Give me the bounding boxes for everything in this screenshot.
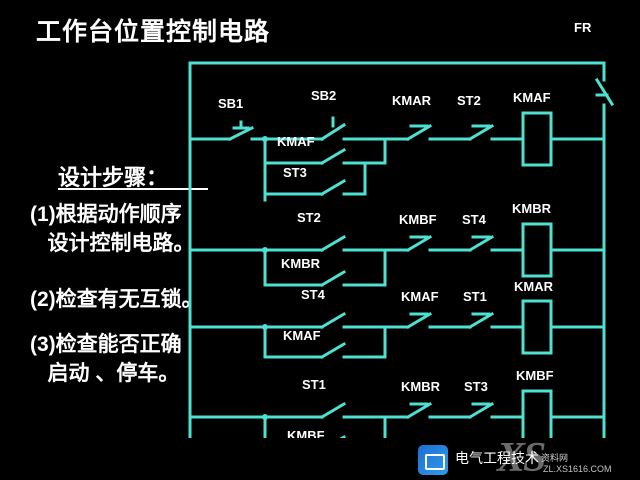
st3-2-blade <box>470 404 492 417</box>
junction-dot-2 <box>262 247 268 253</box>
brand-site-url: ZL.XS1616.COM <box>543 464 612 474</box>
label-kmaf-2: KMAF <box>401 289 439 304</box>
label-st4-2: ST4 <box>301 287 326 302</box>
label-kmbr-coil: KMBR <box>512 201 552 216</box>
fr-contact-blade <box>597 80 612 104</box>
brand-tagline: 资料网 <box>541 451 568 464</box>
st1-2-blade <box>322 404 344 417</box>
kmaf-seal-blade <box>322 150 344 163</box>
st2-2-blade <box>322 237 344 250</box>
kmbr-2-blade <box>408 404 430 417</box>
label-kmbf-coil: KMBF <box>516 368 554 383</box>
kmaf-2-blade <box>408 314 430 327</box>
label-kmbr-1: KMBR <box>281 256 321 271</box>
label-st1-1: ST1 <box>463 289 487 304</box>
label-sb2: SB2 <box>311 88 336 103</box>
kmar-coil-box <box>523 301 551 353</box>
label-kmar-1: KMAR <box>392 93 432 108</box>
label-kmbr-2: KMBR <box>401 379 441 394</box>
ladder-circuit-svg: FR SB1 SB2 KMAR ST2 KMAF KMAF ST3 ST2 KM… <box>0 0 640 480</box>
label-st4-1: ST4 <box>462 212 487 227</box>
label-fr: FR <box>574 20 592 35</box>
label-kmaf-1: KMAF <box>277 134 315 149</box>
kmbr-seal-blade <box>322 272 344 285</box>
label-kmbf-1: KMBF <box>399 212 437 227</box>
st4-2-blade <box>322 314 344 327</box>
st2-1-blade <box>470 126 492 139</box>
label-kmaf-3: KMAF <box>283 328 321 343</box>
kmaf-coil-box <box>523 113 551 165</box>
st4-1-blade <box>470 237 492 250</box>
st1-1-blade <box>470 314 492 327</box>
junction-dot-1 <box>262 136 268 142</box>
kmbr-coil-box <box>523 224 551 276</box>
label-sb1: SB1 <box>218 96 243 111</box>
st3-blade <box>322 181 344 194</box>
kmaf-3-blade <box>322 344 344 357</box>
label-st3-2: ST3 <box>464 379 488 394</box>
footer-watermark-bar: 电气工程技术 XS 资料网 ZL.XS1616.COM <box>0 438 640 480</box>
label-st2-1: ST2 <box>457 93 481 108</box>
kmbf-1-blade <box>408 237 430 250</box>
circuit-diagram-page: 工作台位置控制电路 设计步骤： (1)根据动作顺序 设计控制电路。 (2)检查有… <box>0 0 640 480</box>
junction-dot-3 <box>262 324 268 330</box>
label-kmaf-coil: KMAF <box>513 90 551 105</box>
label-st1-2: ST1 <box>302 377 326 392</box>
junction-dot-4 <box>262 414 268 420</box>
kmar1-blade <box>408 126 430 139</box>
wechat-logo-icon <box>418 445 448 475</box>
label-st3-1: ST3 <box>283 165 307 180</box>
circuit-label-group: FR SB1 SB2 KMAR ST2 KMAF KMAF ST3 ST2 KM… <box>218 20 592 443</box>
label-st2-2: ST2 <box>297 210 321 225</box>
sb1-blade <box>230 128 252 139</box>
brand-watermark: XS <box>497 434 544 480</box>
label-kmar-coil: KMAR <box>514 279 554 294</box>
